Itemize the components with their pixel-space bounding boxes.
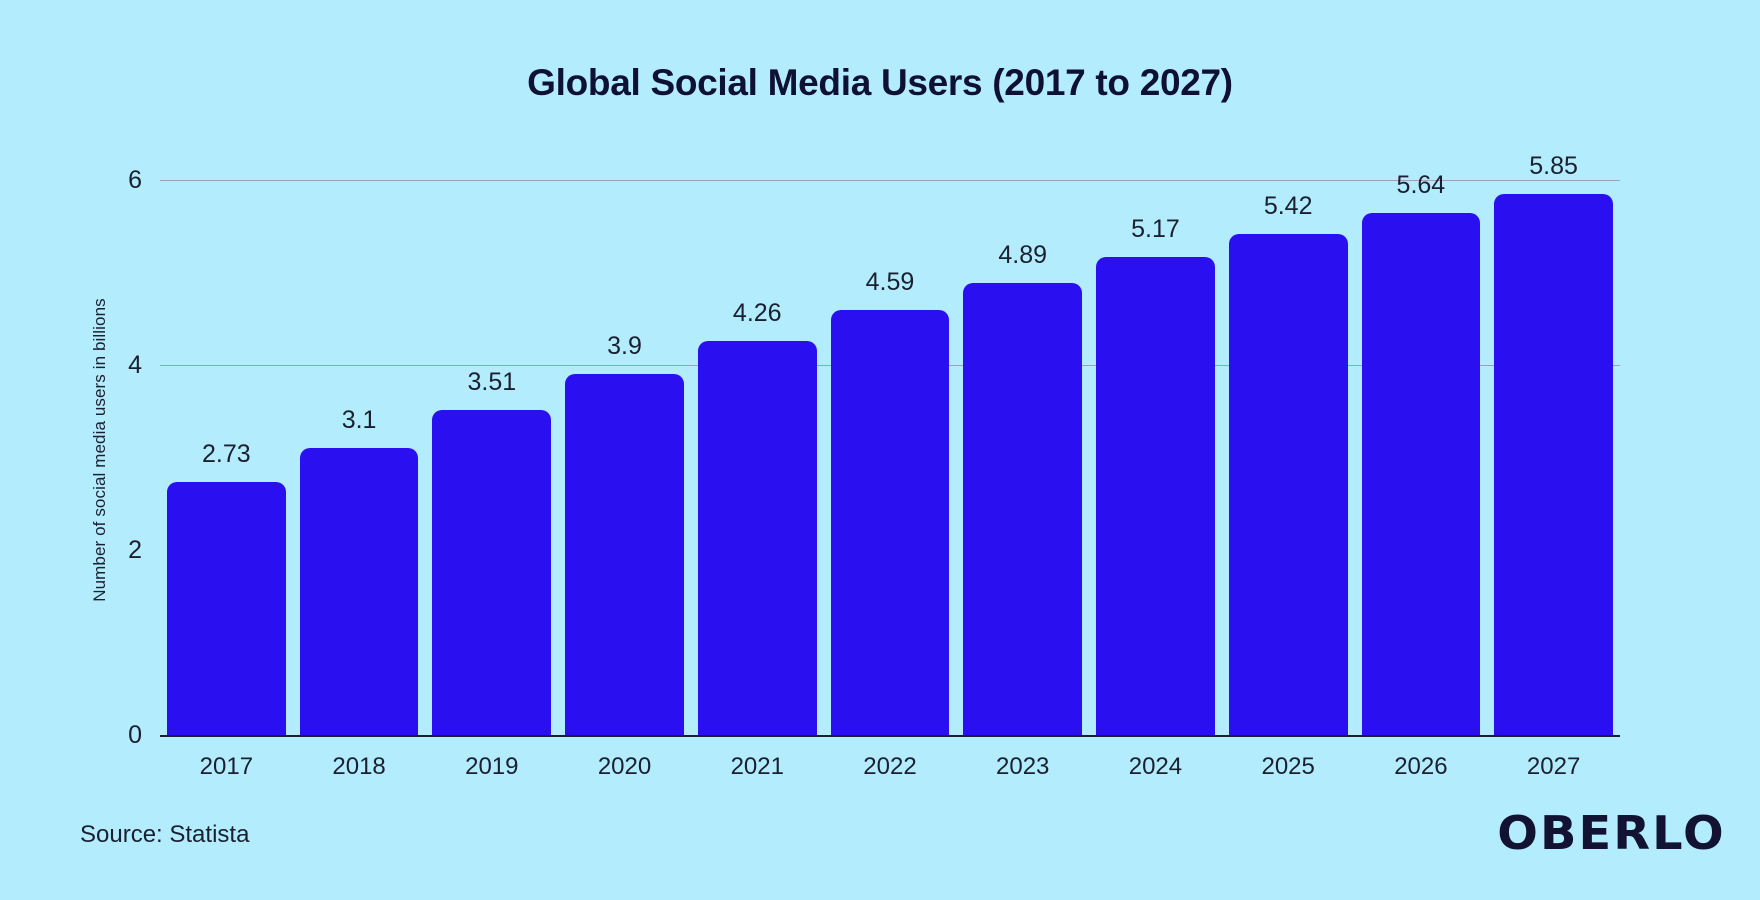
bar[interactable] bbox=[698, 341, 817, 735]
x-axis-tick-label: 2021 bbox=[691, 753, 824, 781]
bar-group[interactable]: 3.92020 bbox=[558, 180, 691, 735]
x-axis-tick-label: 2026 bbox=[1355, 753, 1488, 781]
bar-group[interactable]: 3.512019 bbox=[425, 180, 558, 735]
bar-value-label: 2.73 bbox=[160, 440, 293, 469]
bar-value-label: 4.59 bbox=[824, 268, 957, 297]
x-axis-tick-label: 2020 bbox=[558, 753, 691, 781]
x-axis-tick-label: 2019 bbox=[425, 753, 558, 781]
bar-group[interactable]: 4.892023 bbox=[956, 180, 1089, 735]
plot-area: 0246 2.7320173.120183.5120193.920204.262… bbox=[160, 180, 1620, 735]
bar-series: 2.7320173.120183.5120193.920204.2620214.… bbox=[160, 180, 1620, 735]
y-axis-tick-label: 0 bbox=[82, 723, 142, 748]
bar[interactable] bbox=[300, 448, 419, 735]
bar-value-label: 5.17 bbox=[1089, 215, 1222, 244]
oberlo-logo: OBERLO bbox=[1497, 806, 1726, 860]
bar-group[interactable]: 3.12018 bbox=[293, 180, 426, 735]
y-axis-title: Number of social media users in billions bbox=[88, 240, 112, 660]
bar[interactable] bbox=[831, 310, 950, 735]
bar[interactable] bbox=[167, 482, 286, 735]
bar-group[interactable]: 5.852027 bbox=[1487, 180, 1620, 735]
bar-group[interactable]: 4.592022 bbox=[824, 180, 957, 735]
x-axis-tick-label: 2018 bbox=[293, 753, 426, 781]
x-axis-tick-label: 2022 bbox=[824, 753, 957, 781]
bar-value-label: 4.89 bbox=[956, 241, 1089, 270]
bar-group[interactable]: 5.642026 bbox=[1355, 180, 1488, 735]
bar[interactable] bbox=[963, 283, 1082, 735]
bar-value-label: 4.26 bbox=[691, 299, 824, 328]
bar[interactable] bbox=[1494, 194, 1613, 735]
x-axis-line bbox=[160, 735, 1620, 737]
bar-value-label: 5.42 bbox=[1222, 192, 1355, 221]
bar[interactable] bbox=[1096, 257, 1215, 735]
page-title: Global Social Media Users (2017 to 2027) bbox=[0, 62, 1760, 104]
x-axis-tick-label: 2017 bbox=[160, 753, 293, 781]
y-axis-tick-label: 6 bbox=[82, 168, 142, 193]
bar[interactable] bbox=[1229, 234, 1348, 735]
bar[interactable] bbox=[432, 410, 551, 735]
bar-group[interactable]: 2.732017 bbox=[160, 180, 293, 735]
bar[interactable] bbox=[1362, 213, 1481, 735]
source-caption: Source: Statista bbox=[80, 821, 249, 849]
x-axis-tick-label: 2023 bbox=[956, 753, 1089, 781]
bar-value-label: 5.64 bbox=[1355, 171, 1488, 200]
y-axis-tick-label: 2 bbox=[82, 538, 142, 563]
bar-value-label: 5.85 bbox=[1487, 152, 1620, 181]
chart-page: Global Social Media Users (2017 to 2027)… bbox=[0, 0, 1760, 900]
x-axis-tick-label: 2025 bbox=[1222, 753, 1355, 781]
x-axis-tick-label: 2027 bbox=[1487, 753, 1620, 781]
bar[interactable] bbox=[565, 374, 684, 735]
bar-group[interactable]: 4.262021 bbox=[691, 180, 824, 735]
bar-value-label: 3.1 bbox=[293, 406, 426, 435]
x-axis-tick-label: 2024 bbox=[1089, 753, 1222, 781]
bar-value-label: 3.51 bbox=[425, 368, 558, 397]
bar-value-label: 3.9 bbox=[558, 332, 691, 361]
bar-group[interactable]: 5.422025 bbox=[1222, 180, 1355, 735]
bar-group[interactable]: 5.172024 bbox=[1089, 180, 1222, 735]
y-axis-tick-label: 4 bbox=[82, 353, 142, 378]
